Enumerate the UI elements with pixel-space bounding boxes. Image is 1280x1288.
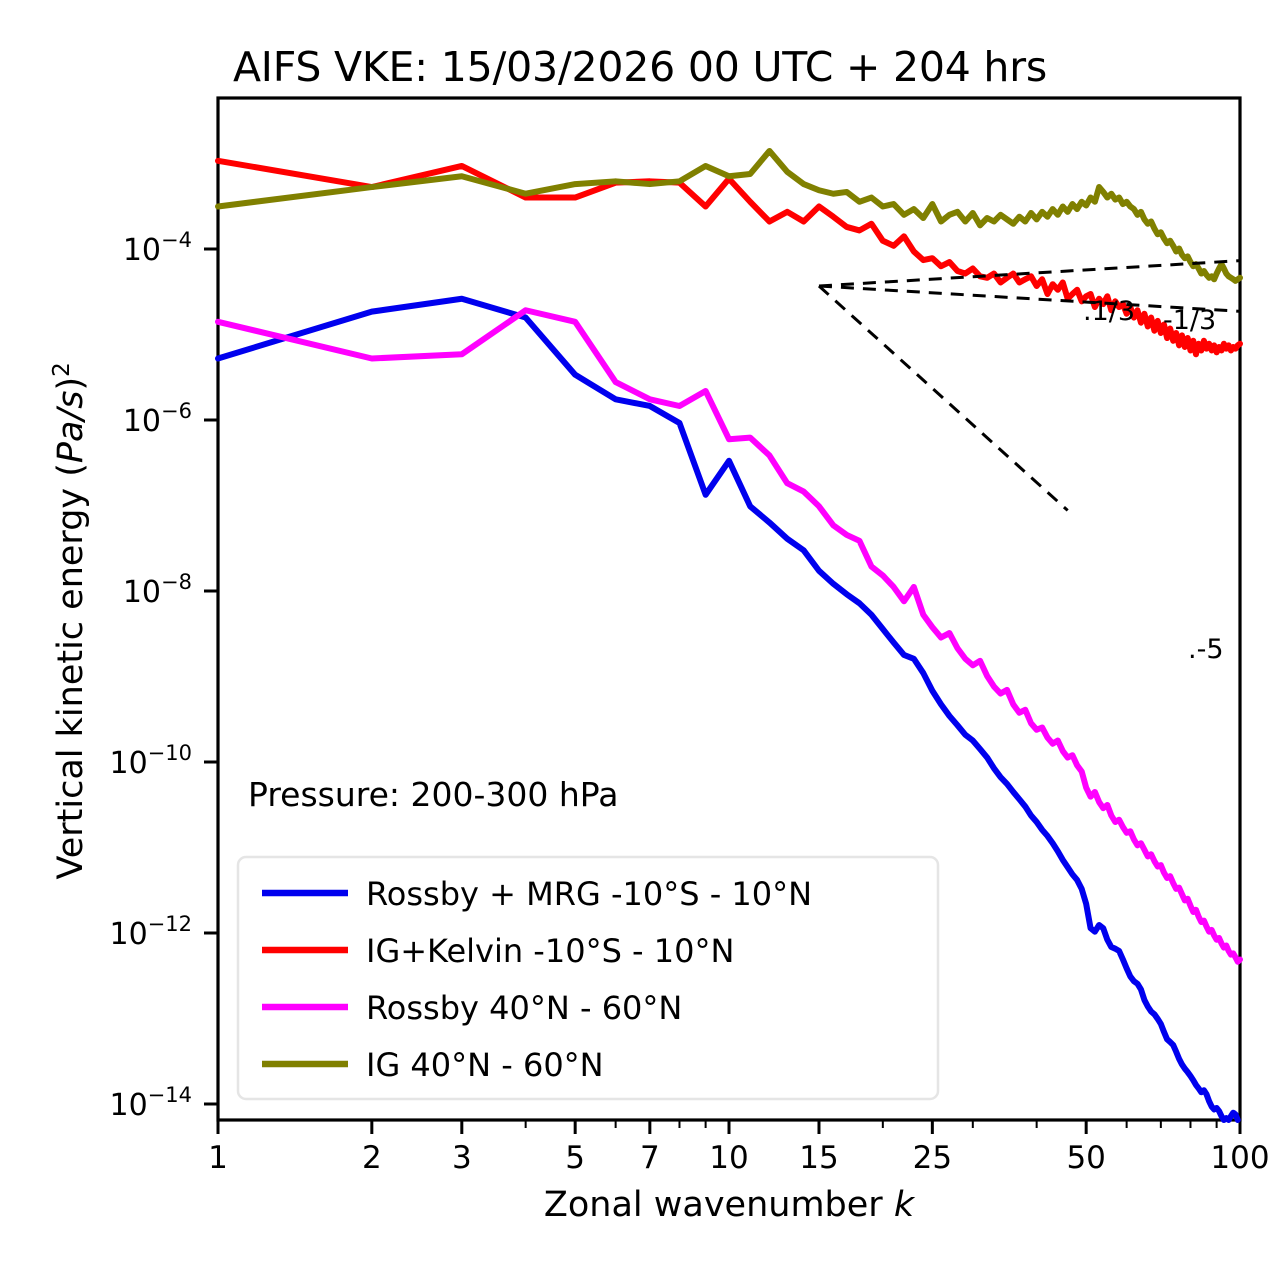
y-tick-label: 10−12: [109, 912, 192, 952]
x-tick-label: 10: [709, 1140, 748, 1176]
y-tick-label: 10−14: [109, 1083, 192, 1123]
reference-slope-line: [819, 261, 1240, 286]
figure-canvas: AIFS VKE: 15/03/2026 00 UTC + 204 hrs Ve…: [0, 0, 1280, 1288]
series-line: [218, 151, 1240, 281]
x-tick-label: 25: [913, 1140, 952, 1176]
y-tick-label: 10−8: [123, 570, 192, 610]
y-tick-label: 10−10: [109, 741, 192, 781]
legend-label-rossby-midlat: Rossby 40°N - 60°N: [366, 989, 682, 1027]
legend-label-ig-kelvin: IG+Kelvin -10°S - 10°N: [366, 932, 734, 970]
x-tick-label: 15: [799, 1140, 838, 1176]
y-tick-label: 10−4: [123, 228, 192, 268]
slope-label-minus-one-third: -1/3: [1163, 305, 1216, 336]
x-tickmarks: [218, 1120, 1240, 1134]
x-tick-label: 3: [452, 1140, 472, 1176]
reference-slope-line: [819, 286, 1068, 510]
legend: Rossby + MRG -10°S - 10°N IG+Kelvin -10°…: [238, 857, 938, 1099]
x-tick-label: 100: [1210, 1140, 1269, 1176]
reference-lines-group: [819, 261, 1240, 511]
x-tick-label: 1: [208, 1140, 228, 1176]
x-tick-labels: 1235710152550100: [208, 1140, 1269, 1176]
y-tickmarks: [204, 249, 218, 1104]
legend-label-ig-midlat: IG 40°N - 60°N: [366, 1046, 604, 1084]
y-tick-labels: 10−4 10−6 10−8 10−10 10−12 10−14: [109, 228, 192, 1123]
pressure-annotation: Pressure: 200-300 hPa: [248, 775, 618, 814]
x-tick-label: 5: [565, 1140, 585, 1176]
slope-label-minus-five: .-5: [1188, 634, 1224, 665]
legend-label-rossby-mrg: Rossby + MRG -10°S - 10°N: [366, 875, 812, 913]
slope-label-plus-one-third: .1/3: [1083, 296, 1135, 327]
x-tick-label: 7: [640, 1140, 660, 1176]
x-tick-label: 50: [1066, 1140, 1105, 1176]
y-tick-label: 10−6: [123, 399, 192, 439]
x-tick-label: 2: [362, 1140, 382, 1176]
plot-svg: 10−4 10−6 10−8 10−10 10−12 10−14 1235710…: [0, 0, 1280, 1288]
